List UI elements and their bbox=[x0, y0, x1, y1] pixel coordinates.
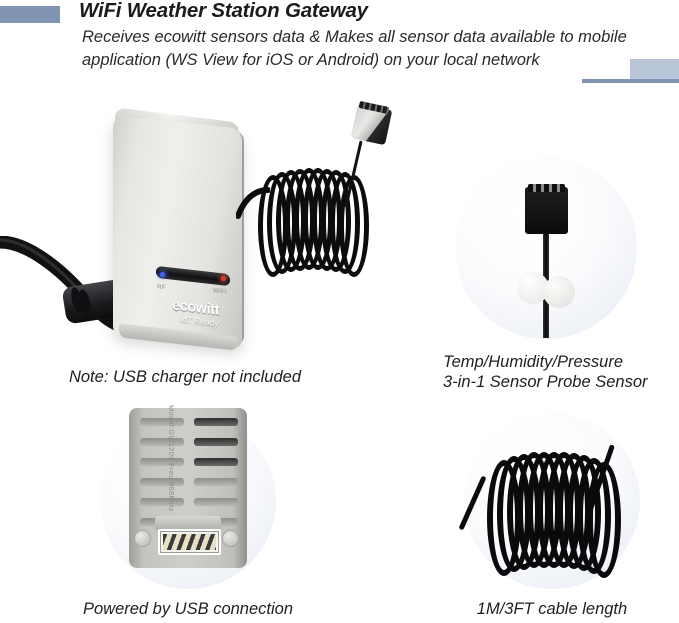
header-accent-rule-right bbox=[582, 79, 679, 83]
coiled-cable-closeup bbox=[487, 452, 619, 564]
callout-caption-sensor-probe: Temp/Humidity/Pressure 3-in-1 Sensor Pro… bbox=[443, 352, 679, 392]
wifi-led-icon bbox=[221, 276, 226, 281]
callout-caption-usb-power: Powered by USB connection bbox=[68, 599, 308, 619]
page-subtitle: Receives ecowitt sensors data & Makes al… bbox=[82, 26, 672, 72]
probe-connector-head bbox=[525, 187, 568, 234]
usb-port-shelf bbox=[155, 516, 221, 530]
callout-caption-cable-length: 1M/3FT cable length bbox=[432, 599, 672, 619]
probe-connector-pins bbox=[528, 184, 565, 192]
product-infographic: WiFi Weather Station Gateway Receives ec… bbox=[0, 0, 679, 623]
usb-port-contacts bbox=[163, 534, 216, 550]
device-model-label: Model:GW1200 Freq:868MHz bbox=[167, 405, 176, 512]
cable-to-device bbox=[236, 186, 270, 226]
hero-caption: Note: USB charger not included bbox=[60, 367, 310, 387]
screw-right bbox=[222, 530, 239, 547]
page-title: WiFi Weather Station Gateway bbox=[79, 0, 368, 23]
header-accent-bar-left bbox=[0, 6, 60, 23]
screw-left bbox=[134, 530, 151, 547]
wifi-led-label: WiFi bbox=[213, 287, 227, 295]
usb-port bbox=[158, 529, 221, 555]
rf-led-label: RF bbox=[157, 284, 166, 292]
probe-disc-right bbox=[543, 276, 575, 308]
rf-led-icon bbox=[160, 272, 165, 277]
